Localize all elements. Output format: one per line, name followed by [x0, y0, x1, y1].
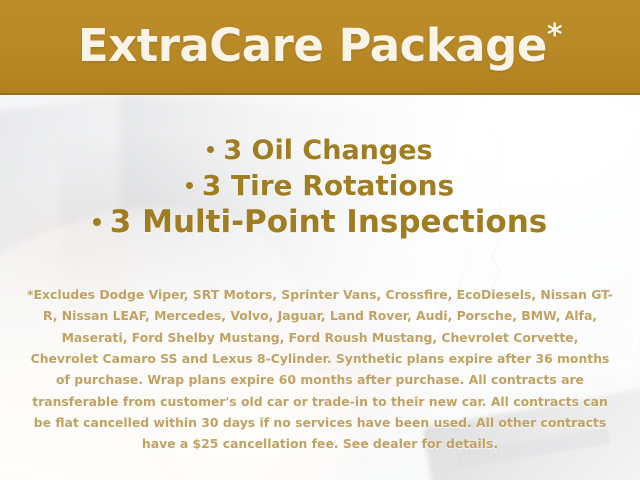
- bullet-dot-icon: [93, 218, 101, 226]
- benefit-item-multi-point-inspections: 3 Multi-Point Inspections: [0, 203, 640, 242]
- benefit-item-oil-changes: 3 Oil Changes: [0, 134, 640, 168]
- page-title-text: ExtraCare Package: [78, 19, 547, 72]
- benefit-item-tire-rotations: 3 Tire Rotations: [0, 168, 640, 203]
- page-title-asterisk: *: [547, 18, 562, 53]
- page-title: ExtraCare Package*: [78, 23, 562, 72]
- benefit-label: 3 Multi-Point Inspections: [110, 204, 547, 240]
- benefits-list: 3 Oil Changes 3 Tire Rotations 3 Multi-P…: [0, 134, 640, 242]
- extracare-package-ad: ExtraCare Package* 3 Oil Changes 3 Tire …: [0, 0, 640, 480]
- benefit-label: 3 Oil Changes: [223, 135, 432, 166]
- header-band: ExtraCare Package*: [0, 0, 640, 95]
- disclaimer-text: *Excludes Dodge Viper, SRT Motors, Sprin…: [26, 284, 614, 455]
- bullet-dot-icon: [186, 182, 193, 189]
- benefit-label: 3 Tire Rotations: [202, 169, 454, 202]
- bullet-dot-icon: [207, 146, 214, 153]
